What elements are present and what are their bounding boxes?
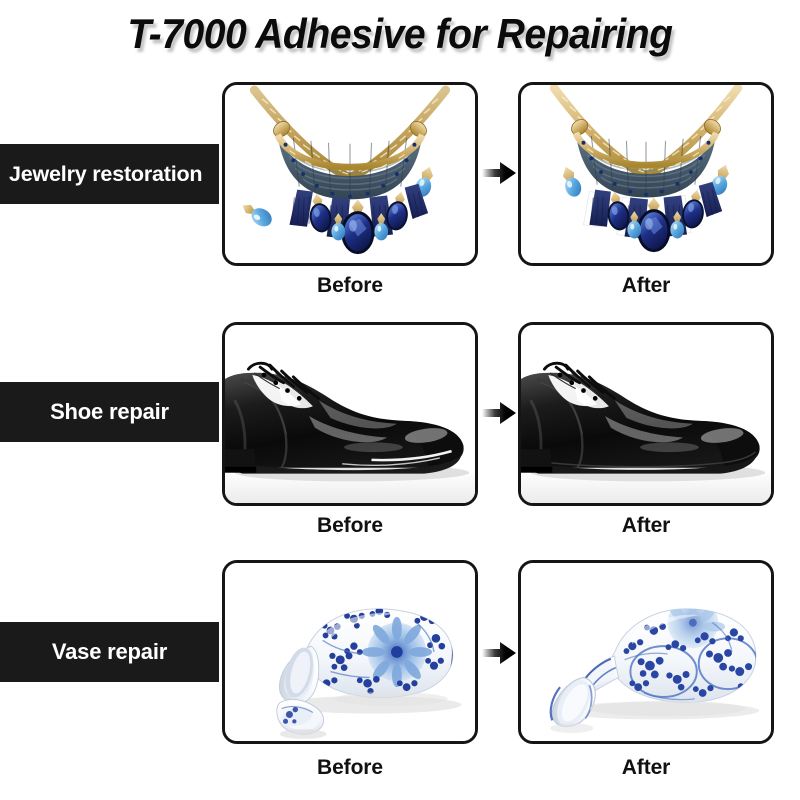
category-label-text: Shoe repair	[50, 399, 169, 425]
arrow-right-icon	[482, 398, 516, 428]
caption-before: Before	[222, 274, 478, 298]
infographic-page: T-7000 Adhesive for Repairing Jewelry re…	[0, 0, 800, 800]
caption-before: Before	[222, 756, 478, 780]
photo-panel-vase-before	[222, 560, 478, 744]
category-label-text: Vase repair	[52, 639, 167, 665]
category-label-bar-vase: Vase repair	[0, 622, 219, 682]
photo-panel-jewelry-before	[222, 82, 478, 266]
category-label-bar-shoe: Shoe repair	[0, 382, 219, 442]
shoe-before-illustration	[225, 325, 475, 503]
necklace-before-illustration	[225, 85, 475, 263]
arrow-right-icon	[482, 638, 516, 668]
photo-panel-vase-after	[518, 560, 774, 744]
photo-panel-jewelry-after	[518, 82, 774, 266]
caption-after: After	[518, 756, 774, 780]
photo-panel-shoe-before	[222, 322, 478, 506]
caption-before: Before	[222, 514, 478, 538]
vase-after-illustration	[521, 563, 771, 741]
page-title: T-7000 Adhesive for Repairing	[28, 10, 772, 58]
photo-panel-shoe-after	[518, 322, 774, 506]
necklace-after-illustration	[521, 85, 771, 263]
category-label-bar-jewelry: Jewelry restoration	[0, 144, 219, 204]
category-label-text: Jewelry restoration	[9, 162, 202, 187]
caption-after: After	[518, 274, 774, 298]
arrow-right-icon	[482, 158, 516, 188]
vase-before-illustration	[225, 563, 475, 741]
comparison-row-vase: Vase repair	[0, 560, 800, 792]
shoe-after-illustration	[521, 325, 771, 503]
comparison-row-jewelry: Jewelry restoration	[0, 82, 800, 312]
comparison-row-shoe: Shoe repair	[0, 322, 800, 552]
caption-after: After	[518, 514, 774, 538]
